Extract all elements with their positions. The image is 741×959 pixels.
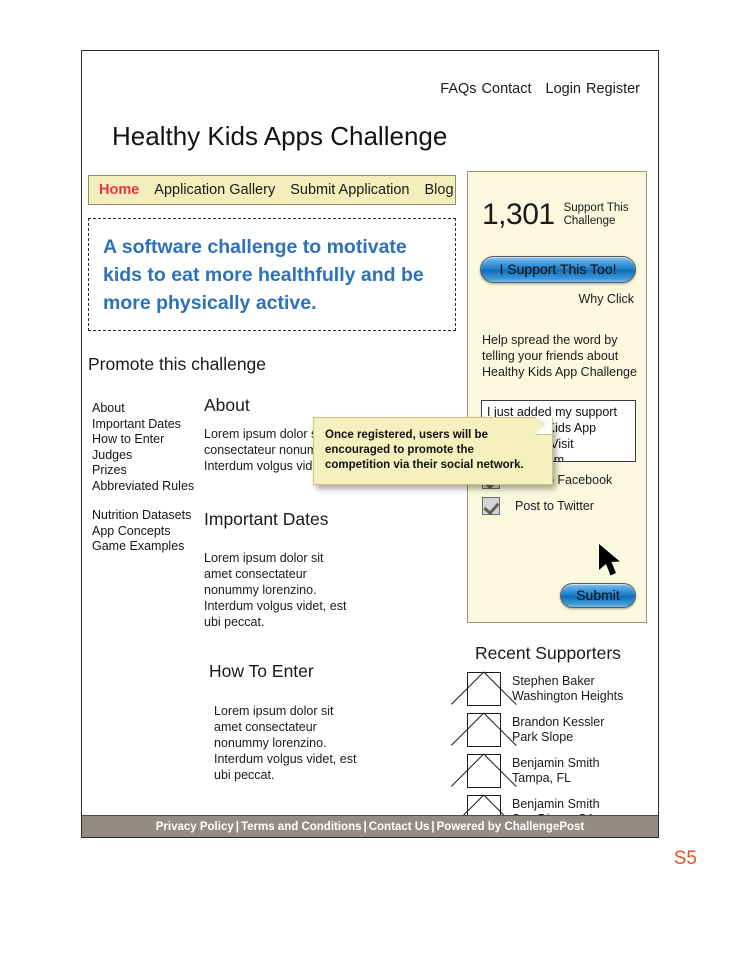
supporter-location: Washington Heights <box>512 689 623 703</box>
supporter-name: Stephen Baker <box>512 674 595 688</box>
post-to-twitter-row[interactable]: Post to Twitter <box>482 497 594 515</box>
utility-nav: FAQsContactLoginRegister <box>440 81 640 97</box>
spread-the-word-text: Help spread the word by telling your fri… <box>482 332 640 380</box>
utility-link-register[interactable]: Register <box>586 81 640 97</box>
supporter-list-item[interactable]: Benjamin Smith Tampa, FL <box>467 754 657 788</box>
nav-item-application-gallery[interactable]: Application Gallery <box>154 182 275 198</box>
supporter-name: Benjamin Smith <box>512 756 600 770</box>
subnav-item-how-to-enter[interactable]: How to Enter <box>92 432 202 448</box>
left-subnav: About Important Dates How to Enter Judge… <box>92 401 202 555</box>
supporter-details: Stephen Baker Washington Heights <box>512 674 623 704</box>
section-heading-how-to-enter: How To Enter <box>209 661 419 682</box>
support-count-value: 1,301 <box>482 200 555 230</box>
utility-link-contact[interactable]: Contact <box>482 81 532 97</box>
avatar-placeholder-icon <box>467 713 501 747</box>
recent-supporters-section: Recent Supporters Stephen Baker Washingt… <box>467 643 657 836</box>
support-count-label: Support This Challenge <box>564 202 638 229</box>
main-nav: Home Application Gallery Submit Applicat… <box>88 175 456 205</box>
supporter-name: Benjamin Smith <box>512 797 600 811</box>
subnav-item-judges[interactable]: Judges <box>92 448 202 464</box>
utility-link-faqs[interactable]: FAQs <box>440 81 476 97</box>
nav-item-blog[interactable]: Blog <box>425 182 454 198</box>
avatar-placeholder-icon <box>467 754 501 788</box>
utility-link-login[interactable]: Login <box>546 81 581 97</box>
hero-headline: A software challenge to motivate kids to… <box>103 233 441 317</box>
support-panel: 1,301 Support This Challenge I Support T… <box>467 171 647 623</box>
post-to-twitter-checkbox[interactable] <box>482 497 500 515</box>
promote-challenge-heading: Promote this challenge <box>88 354 266 375</box>
subnav-item-about[interactable]: About <box>92 401 202 417</box>
footer-link-privacy-policy[interactable]: Privacy Policy <box>156 821 234 833</box>
site-title: Healthy Kids Apps Challenge <box>112 121 447 152</box>
nav-item-home[interactable]: Home <box>99 182 139 198</box>
sticky-note-text: Once registered, users will be encourage… <box>325 428 540 473</box>
post-to-twitter-label: Post to Twitter <box>515 499 594 513</box>
footer-separator: | <box>362 821 369 833</box>
footer-link-contact-us[interactable]: Contact Us <box>369 821 430 833</box>
subnav-item-nutrition-datasets[interactable]: Nutrition Datasets <box>92 508 202 524</box>
supporter-details: Benjamin Smith Tampa, FL <box>512 756 600 786</box>
subnav-group-divider <box>92 494 202 508</box>
section-heading-important-dates: Important Dates <box>204 509 419 530</box>
footer-link-terms[interactable]: Terms and Conditions <box>241 821 362 833</box>
why-click-link[interactable]: Why Click <box>578 292 634 306</box>
section-body-how-to-enter: Lorem ipsum dolor sit amet consectateur … <box>214 703 364 783</box>
subnav-item-abbreviated-rules[interactable]: Abbreviated Rules <box>92 479 202 495</box>
footer-separator: | <box>429 821 436 833</box>
slide-number-label: S5 <box>674 848 697 870</box>
avatar-placeholder-icon <box>467 672 501 706</box>
section-heading-about: About <box>204 395 419 416</box>
subnav-item-game-examples[interactable]: Game Examples <box>92 539 202 555</box>
submit-button[interactable]: Submit <box>560 583 636 608</box>
section-body-important-dates: Lorem ipsum dolor sit amet consectateur … <box>204 550 354 630</box>
supporter-location: Tampa, FL <box>512 771 571 785</box>
supporter-list-item[interactable]: Stephen Baker Washington Heights <box>467 672 657 706</box>
supporter-name: Brandon Kessler <box>512 715 604 729</box>
subnav-item-important-dates[interactable]: Important Dates <box>92 417 202 433</box>
footer-separator: | <box>234 821 241 833</box>
i-support-this-too-button[interactable]: I Support This Too! <box>480 256 636 283</box>
annotation-sticky-note: Once registered, users will be encourage… <box>313 417 553 485</box>
footer-links: Privacy Policy|Terms and Conditions|Cont… <box>156 821 585 833</box>
supporter-list-item[interactable]: Brandon Kessler Park Slope <box>467 713 657 747</box>
site-footer: Privacy Policy|Terms and Conditions|Cont… <box>82 815 658 837</box>
supporter-location: Park Slope <box>512 730 573 744</box>
subnav-item-prizes[interactable]: Prizes <box>92 463 202 479</box>
nav-item-submit-application[interactable]: Submit Application <box>290 182 409 198</box>
wireframe-page-frame: FAQsContactLoginRegister Healthy Kids Ap… <box>81 50 659 838</box>
support-counter: 1,301 Support This Challenge <box>482 200 638 230</box>
subnav-item-app-concepts[interactable]: App Concepts <box>92 524 202 540</box>
footer-link-powered-by[interactable]: Powered by ChallengePost <box>437 821 585 833</box>
recent-supporters-title: Recent Supporters <box>475 643 657 664</box>
supporter-details: Brandon Kessler Park Slope <box>512 715 604 745</box>
hero-banner: A software challenge to motivate kids to… <box>88 218 456 331</box>
